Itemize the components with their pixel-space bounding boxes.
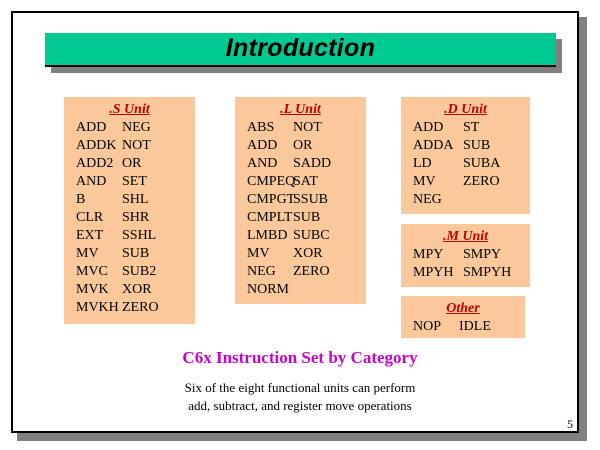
- unit-heading: .S Unit: [64, 101, 195, 118]
- instruction-row: MVSUB: [64, 245, 195, 263]
- instruction-row: MPYSMPY: [401, 246, 530, 264]
- instruction-row: ADDNEG: [64, 119, 195, 137]
- instruction-mnemonic: SADD: [293, 155, 366, 173]
- instruction-mnemonic: SUBA: [463, 155, 530, 173]
- instruction-mnemonic: SHL: [122, 191, 195, 209]
- instruction-mnemonic: ABS: [235, 119, 293, 137]
- instruction-mnemonic: XOR: [293, 245, 366, 263]
- instruction-row: ADDOR: [235, 137, 366, 155]
- instruction-mnemonic: AND: [235, 155, 293, 173]
- instruction-mnemonic: SUB: [463, 137, 530, 155]
- unit-box-sunit: .S UnitADDNEGADDKNOTADD2ORANDSETBSHLCLRS…: [64, 97, 195, 324]
- instruction-mnemonic: MPYH: [401, 264, 463, 282]
- unit-heading: .M Unit: [401, 228, 530, 245]
- instruction-mnemonic: CMPEQ: [235, 173, 293, 191]
- instruction-mnemonic: MV: [64, 245, 122, 263]
- instruction-row: LDSUBA: [401, 155, 530, 173]
- instruction-mnemonic: CMPGT: [235, 191, 293, 209]
- instruction-mnemonic: LD: [401, 155, 463, 173]
- instruction-row: ANDSET: [64, 173, 195, 191]
- unit-box-munit: .M UnitMPYSMPYMPYHSMPYH: [401, 224, 530, 287]
- caption-subtext-line-2: add, subtract, and register move operati…: [0, 397, 600, 415]
- instruction-mnemonic: SAT: [293, 173, 366, 191]
- instruction-mnemonic: OR: [293, 137, 366, 155]
- instruction-row: ADDST: [401, 119, 530, 137]
- instruction-mnemonic: MVK: [64, 281, 122, 299]
- instruction-mnemonic: SMPY: [463, 246, 530, 264]
- instruction-mnemonic: MV: [235, 245, 293, 263]
- instruction-row: CLRSHR: [64, 209, 195, 227]
- instruction-mnemonic: ADD: [401, 119, 463, 137]
- unit-box-lunit: .L UnitABSNOTADDORANDSADDCMPEQSATCMPGTSS…: [235, 97, 366, 304]
- instruction-mnemonic: ADDK: [64, 137, 122, 155]
- unit-heading: .D Unit: [401, 101, 530, 118]
- instruction-row: ADDKNOT: [64, 137, 195, 155]
- instruction-mnemonic: ADD2: [64, 155, 122, 173]
- slide-canvas: Introduction .S UnitADDNEGADDKNOTADD2ORA…: [0, 0, 600, 450]
- instruction-mnemonic: IDLE: [459, 318, 525, 336]
- instruction-row: NEGZERO: [235, 263, 366, 281]
- instruction-mnemonic: NEG: [401, 191, 463, 209]
- instruction-mnemonic: B: [64, 191, 122, 209]
- instruction-mnemonic: NEG: [122, 119, 195, 137]
- instruction-mnemonic: SUB2: [122, 263, 195, 281]
- instruction-mnemonic: SUBC: [293, 227, 366, 245]
- caption-title: C6x Instruction Set by Category: [0, 348, 600, 368]
- instruction-mnemonic: SMPYH: [463, 264, 530, 282]
- instruction-mnemonic: SSUB: [293, 191, 366, 209]
- instruction-row: EXTSSHL: [64, 227, 195, 245]
- instruction-mnemonic: MVC: [64, 263, 122, 281]
- instruction-row: LMBDSUBC: [235, 227, 366, 245]
- instruction-row: MVKHZERO: [64, 299, 195, 317]
- slide-title: Introduction: [226, 36, 375, 63]
- unit-box-other: OtherNOPIDLE: [401, 296, 525, 338]
- instruction-mnemonic: [293, 281, 366, 299]
- instruction-row: ANDSADD: [235, 155, 366, 173]
- instruction-mnemonic: ZERO: [293, 263, 366, 281]
- instruction-row: MVZERO: [401, 173, 530, 191]
- instruction-row: NEG: [401, 191, 530, 209]
- instruction-mnemonic: SHR: [122, 209, 195, 227]
- instruction-mnemonic: OR: [122, 155, 195, 173]
- instruction-mnemonic: ADD: [235, 137, 293, 155]
- instruction-mnemonic: ADDA: [401, 137, 463, 155]
- instruction-row: BSHL: [64, 191, 195, 209]
- instruction-mnemonic: ZERO: [122, 299, 195, 317]
- caption-subtext: Six of the eight functional units can pe…: [0, 379, 600, 415]
- instruction-row: MVXOR: [235, 245, 366, 263]
- instruction-row: ADDASUB: [401, 137, 530, 155]
- instruction-row: NORM: [235, 281, 366, 299]
- instruction-mnemonic: SUB: [122, 245, 195, 263]
- instruction-mnemonic: XOR: [122, 281, 195, 299]
- instruction-mnemonic: MV: [401, 173, 463, 191]
- unit-heading: .L Unit: [235, 101, 366, 118]
- instruction-mnemonic: NOP: [401, 318, 459, 336]
- instruction-mnemonic: NOT: [293, 119, 366, 137]
- instruction-mnemonic: ZERO: [463, 173, 530, 191]
- instruction-row: MVKXOR: [64, 281, 195, 299]
- instruction-row: CMPLTSUB: [235, 209, 366, 227]
- instruction-mnemonic: ST: [463, 119, 530, 137]
- instruction-mnemonic: NOT: [122, 137, 195, 155]
- instruction-mnemonic: [463, 191, 530, 209]
- instruction-mnemonic: LMBD: [235, 227, 293, 245]
- unit-box-dunit: .D UnitADDSTADDASUBLDSUBAMVZERONEG: [401, 97, 530, 214]
- instruction-mnemonic: AND: [64, 173, 122, 191]
- instruction-mnemonic: SUB: [293, 209, 366, 227]
- instruction-mnemonic: CLR: [64, 209, 122, 227]
- instruction-row: MVCSUB2: [64, 263, 195, 281]
- title-banner: Introduction: [45, 33, 556, 67]
- instruction-mnemonic: EXT: [64, 227, 122, 245]
- instruction-mnemonic: NORM: [235, 281, 293, 299]
- caption-subtext-line-1: Six of the eight functional units can pe…: [0, 379, 600, 397]
- instruction-row: CMPEQSAT: [235, 173, 366, 191]
- instruction-row: ABSNOT: [235, 119, 366, 137]
- instruction-mnemonic: MPY: [401, 246, 463, 264]
- instruction-row: CMPGTSSUB: [235, 191, 366, 209]
- instruction-row: MPYHSMPYH: [401, 264, 530, 282]
- instruction-mnemonic: SET: [122, 173, 195, 191]
- instruction-mnemonic: ADD: [64, 119, 122, 137]
- page-number: 5: [567, 417, 573, 432]
- unit-heading: Other: [401, 300, 525, 317]
- instruction-mnemonic: SSHL: [122, 227, 195, 245]
- instruction-mnemonic: MVKH: [64, 299, 122, 317]
- instruction-row: NOPIDLE: [401, 318, 525, 336]
- instruction-row: ADD2OR: [64, 155, 195, 173]
- instruction-mnemonic: CMPLT: [235, 209, 293, 227]
- instruction-mnemonic: NEG: [235, 263, 293, 281]
